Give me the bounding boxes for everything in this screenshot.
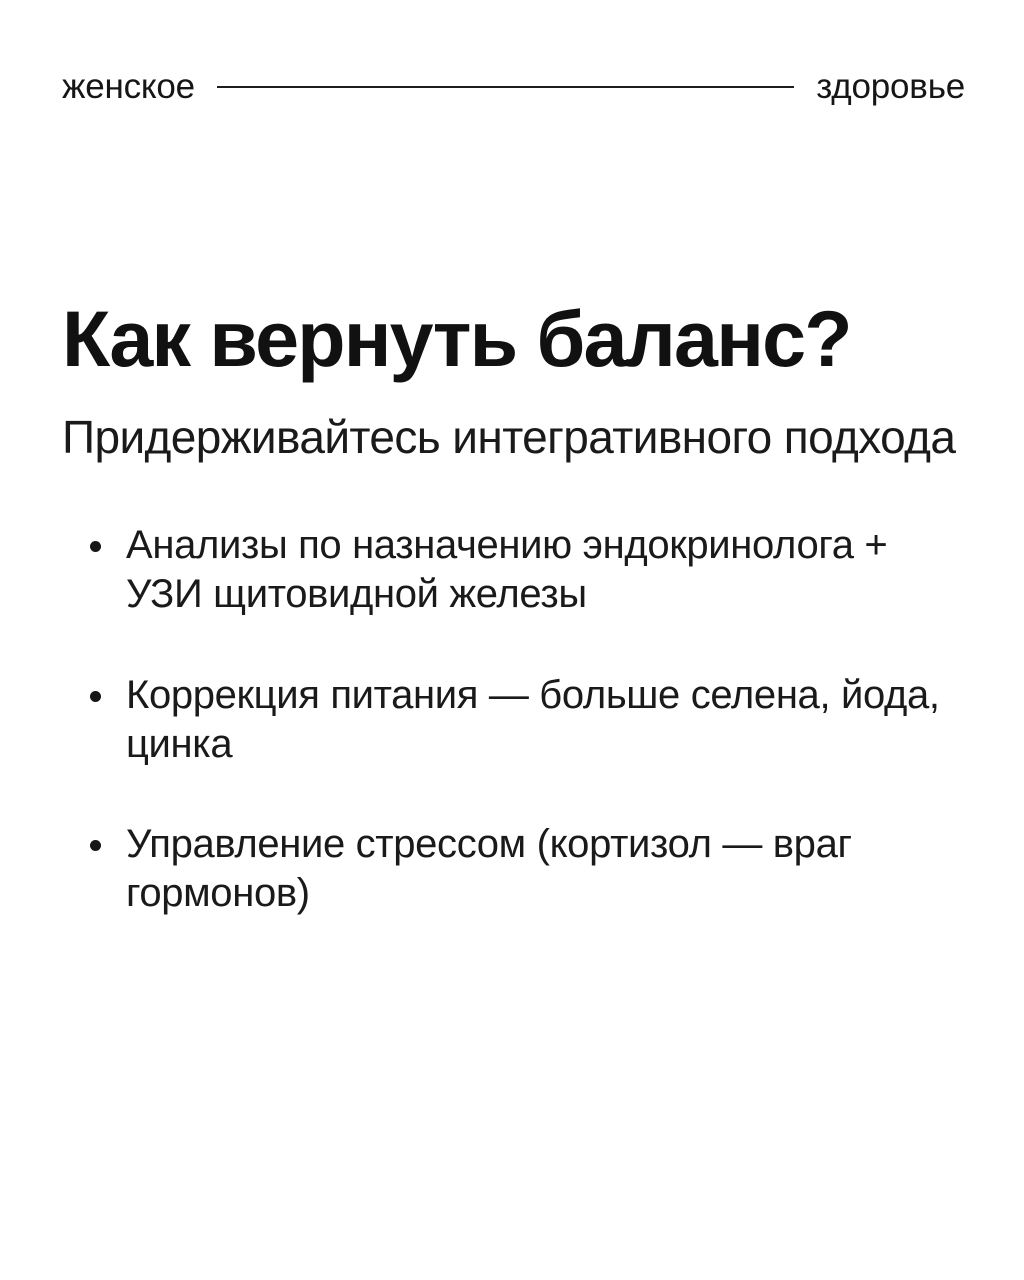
list-item-label: Анализы по назначению эндокринолога + УЗ… <box>126 523 887 616</box>
bullet-dot-icon <box>90 541 101 552</box>
page-title: Как вернуть баланс? <box>62 300 965 377</box>
list-item: Коррекция питания — больше селена, йода,… <box>62 671 965 769</box>
bullet-dot-icon <box>90 840 101 851</box>
bullet-list: Анализы по назначению эндокринолога + УЗ… <box>62 521 965 918</box>
header-right-word: здоровье <box>816 69 965 104</box>
header-divider-line <box>217 86 794 88</box>
header: женское здоровье <box>62 62 965 110</box>
bullet-dot-icon <box>90 691 101 702</box>
list-item-label: Коррекция питания — больше селена, йода,… <box>126 673 940 766</box>
page-subtitle: Придерживайтесь интегративного подхода <box>62 411 965 465</box>
header-left-word: женское <box>62 69 195 104</box>
slide-card: женское здоровье Как вернуть баланс? При… <box>0 0 1024 1280</box>
list-item-label: Управление стрессом (кортизол — враг гор… <box>126 822 852 915</box>
list-item: Анализы по назначению эндокринолога + УЗ… <box>62 521 965 619</box>
list-item: Управление стрессом (кортизол — враг гор… <box>62 820 965 918</box>
content-block: Как вернуть баланс? Придерживайтесь инте… <box>62 300 965 918</box>
